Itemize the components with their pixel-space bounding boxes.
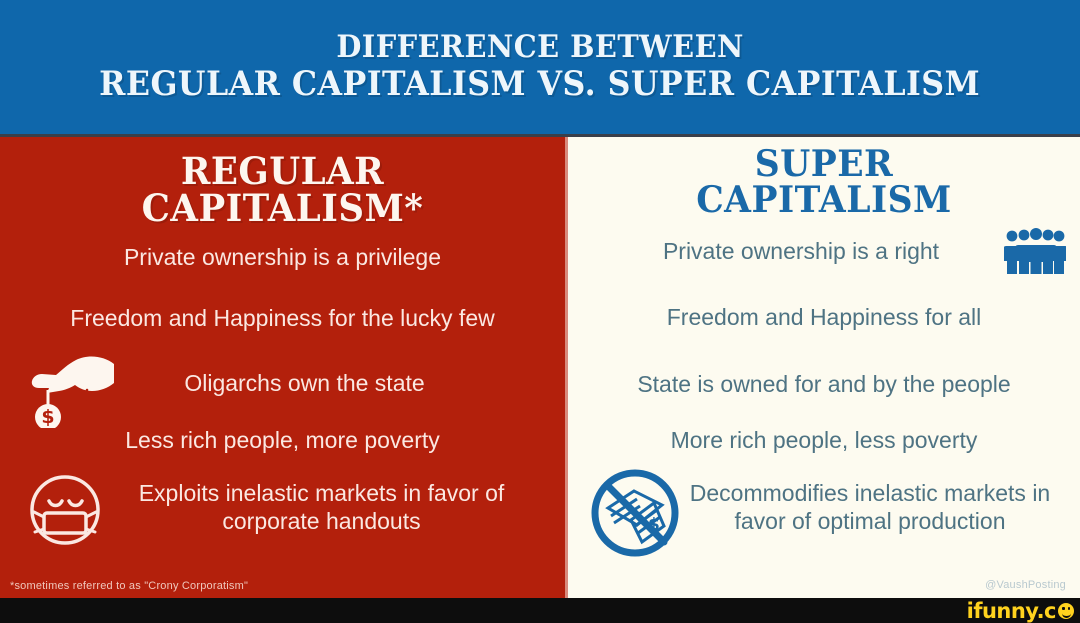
left-panel-title: REGULAR CAPITALISM* [11,137,553,226]
left-point-5-text: Exploits inelastic markets in favor of c… [108,479,535,535]
smiley-face-icon [1058,603,1074,619]
right-point-4-text: More rich people, less poverty [671,426,978,454]
right-point-2-text: Freedom and Happiness for all [667,303,982,331]
right-point-3: State is owned for and by the people [568,356,1080,412]
infographic-image: DIFFERENCE BETWEEN REGULAR CAPITALISM VS… [0,0,1080,623]
left-point-1: Private ownership is a privilege [0,232,565,282]
panel-regular-capitalism: REGULAR CAPITALISM* Private ownership is… [0,137,568,598]
left-panel-points: Private ownership is a privilege Freedom… [0,232,565,546]
left-point-3-text: Oligarchs own the state [184,369,424,397]
attribution-handle: @VaushPosting [985,579,1066,591]
right-point-4: More rich people, less poverty [568,412,1080,468]
left-panel-title-line-2: CAPITALISM* [11,190,553,227]
header-title-line-1: DIFFERENCE BETWEEN [336,32,743,64]
right-panel-title: SUPER CAPITALISM [578,137,1070,218]
bottom-bar [0,598,1080,623]
ifunny-watermark: ifunny.c [967,598,1074,623]
right-point-3-text: State is owned for and by the people [637,370,1010,398]
panel-super-capitalism: SUPER CAPITALISM Private ownership is a … [568,137,1080,598]
comparison-panels: REGULAR CAPITALISM* Private ownership is… [0,137,1080,598]
right-panel-points: Private ownership is a right [568,224,1080,546]
ifunny-watermark-text: ifunny.c [967,599,1056,623]
masked-face-icon [22,472,108,548]
left-point-5: Exploits inelastic markets in favor of c… [0,468,565,546]
no-money-icon: $ [588,468,682,558]
left-point-4: Less rich people, more poverty [0,412,565,468]
header-banner: DIFFERENCE BETWEEN REGULAR CAPITALISM VS… [0,0,1080,137]
group-of-people-icon [1004,228,1066,274]
header-title-line-2: REGULAR CAPITALISM VS. SUPER CAPITALISM [100,67,981,102]
right-point-2: Freedom and Happiness for all [568,278,1080,356]
left-point-4-text: Less rich people, more poverty [125,426,440,454]
left-point-1-text: Private ownership is a privilege [124,243,441,271]
right-point-5: $ Decommodifies inelastic markets in fav… [568,468,1080,546]
right-point-1: Private ownership is a right [568,224,1080,278]
left-point-2-text: Freedom and Happiness for the lucky few [70,304,494,332]
right-panel-title-line-2: CAPITALISM [578,183,1070,219]
right-point-5-text: Decommodifies inelastic markets in favor… [678,479,1062,535]
left-point-2: Freedom and Happiness for the lucky few [0,282,565,354]
left-panel-footnote: *sometimes referred to as "Crony Corpora… [10,580,248,592]
right-point-1-text: Private ownership is a right [663,237,939,265]
left-point-3: $ Oligarchs own the state [0,354,565,412]
